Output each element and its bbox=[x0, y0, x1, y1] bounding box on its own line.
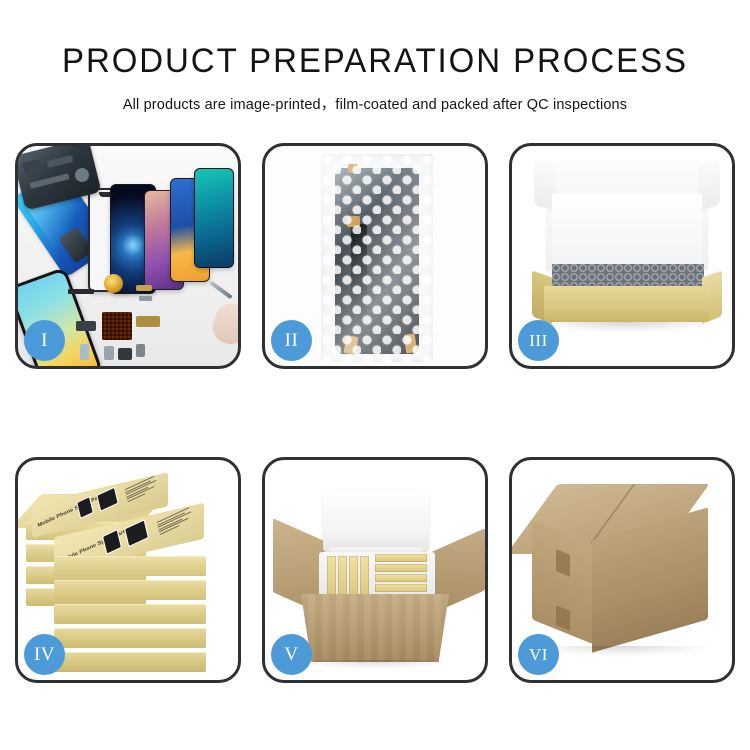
box-shadow bbox=[538, 322, 714, 332]
sealed-carton-shadow bbox=[534, 646, 712, 656]
flex-grid-chip-part bbox=[102, 312, 132, 340]
header: PRODUCT PREPARATION PROCESS All products… bbox=[0, 0, 750, 114]
process-step-4: Mobile Phone Spare Parts Mobile Phone Sp… bbox=[15, 457, 241, 683]
spare-part-bar-8 bbox=[136, 344, 145, 357]
page-subtitle: All products are image-printed，film-coat… bbox=[0, 93, 750, 114]
retail-box-front-4 bbox=[54, 628, 206, 646]
packed-box-8 bbox=[375, 584, 427, 592]
box-swatch-back-2 bbox=[96, 487, 119, 512]
process-step-5: V bbox=[262, 457, 488, 683]
packed-box-4 bbox=[360, 556, 369, 600]
step-badge-4: IV bbox=[24, 634, 65, 675]
product-preparation-infographic: PRODUCT PREPARATION PROCESS All products… bbox=[0, 0, 750, 750]
foam-box-lid bbox=[323, 490, 429, 552]
box-spec-lines-back bbox=[125, 474, 162, 504]
retail-box-front-5 bbox=[54, 652, 206, 670]
screen-teal-wallpaper bbox=[194, 168, 234, 268]
spare-part-bar-9 bbox=[80, 344, 89, 360]
technician-hand bbox=[209, 300, 238, 349]
foam-back-panel bbox=[552, 194, 702, 268]
step-badge-5: V bbox=[271, 634, 312, 675]
step-badge-3: III bbox=[518, 320, 559, 361]
step-badge-2: II bbox=[271, 320, 312, 361]
step-badge-1: I bbox=[24, 320, 65, 361]
repair-tool bbox=[209, 281, 232, 300]
box-spec-lines-front bbox=[157, 505, 198, 536]
bubble-wrap-bag bbox=[321, 154, 433, 362]
retail-box-front-2 bbox=[54, 580, 206, 598]
process-step-3: III bbox=[509, 143, 735, 369]
plastic-sheen bbox=[321, 154, 433, 362]
packed-box-7 bbox=[375, 574, 427, 582]
gold-coil-part bbox=[104, 274, 123, 293]
process-step-grid: I II bbox=[15, 143, 735, 683]
kraft-box-front bbox=[544, 286, 710, 322]
process-step-2: II bbox=[262, 143, 488, 369]
spare-part-bar-4 bbox=[76, 321, 96, 331]
spare-part-bar-1 bbox=[68, 289, 94, 294]
carton-front-panel bbox=[301, 594, 449, 662]
packed-box-5 bbox=[375, 554, 427, 562]
retail-box-front-3 bbox=[54, 604, 206, 622]
spare-part-bar-5 bbox=[136, 316, 160, 327]
spare-part-bar-2 bbox=[136, 285, 152, 291]
step-badge-6: VI bbox=[518, 634, 559, 675]
packed-box-2 bbox=[338, 556, 347, 600]
packed-box-6 bbox=[375, 564, 427, 572]
page-title: PRODUCT PREPARATION PROCESS bbox=[11, 44, 739, 80]
process-step-6: VI bbox=[509, 457, 735, 683]
retail-box-front-1 bbox=[54, 556, 206, 574]
spare-part-bar-6 bbox=[104, 346, 114, 360]
packed-box-1 bbox=[327, 556, 336, 600]
spare-part-bar-3 bbox=[139, 296, 152, 301]
packed-box-3 bbox=[349, 556, 358, 600]
process-step-1: I bbox=[15, 143, 241, 369]
spare-part-bar-7 bbox=[118, 348, 132, 360]
carton-shadow bbox=[299, 660, 451, 669]
box-swatch-front-2 bbox=[124, 519, 149, 547]
